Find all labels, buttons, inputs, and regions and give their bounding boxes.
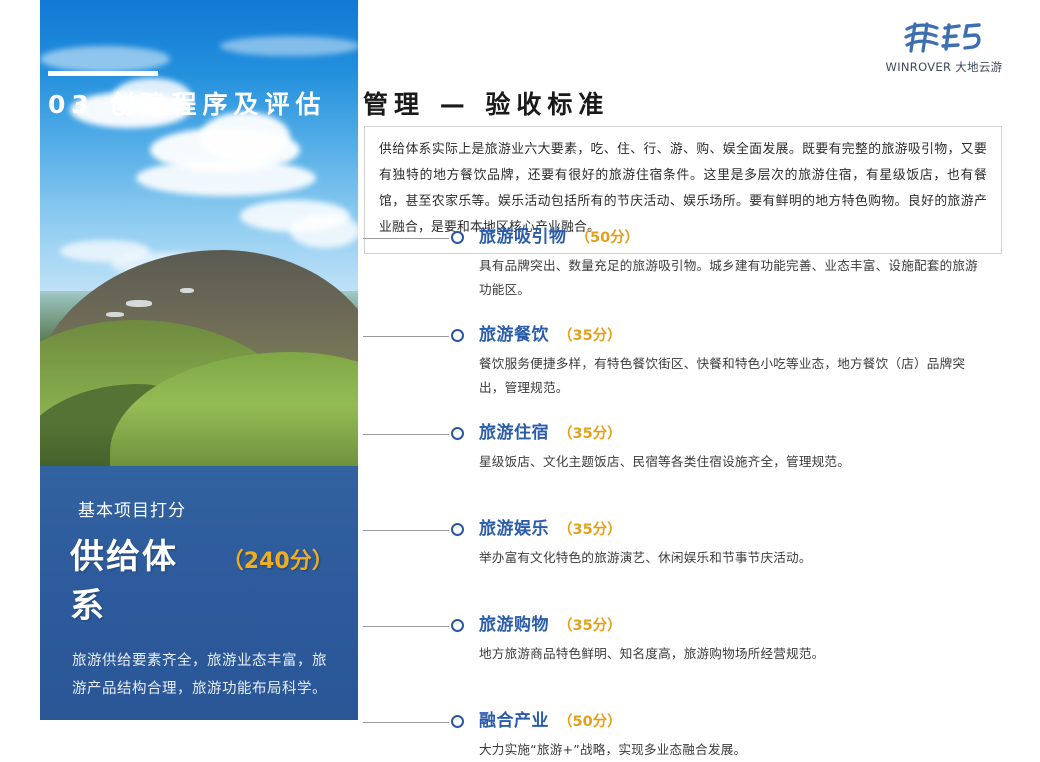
list-item-title: 旅游购物 xyxy=(479,610,549,635)
page-title-left: 03 创建程序及评估 xyxy=(48,85,327,121)
list-item-desc: 具有品牌突出、数量充足的旅游吸引物。城乡建有功能完善、业态丰富、设施配套的旅游功… xyxy=(479,254,979,302)
cloud-wisp xyxy=(220,36,358,56)
panel-title: 供给体系 xyxy=(70,529,212,627)
list-item[interactable]: 旅游购物 （35分） 地方旅游商品特色鲜明、知名度高，旅游购物场所经营规范。 xyxy=(363,610,1023,666)
logo-text: WINROVER 大地云游 xyxy=(884,59,1004,75)
list-item-score: （50分） xyxy=(558,710,622,731)
cloud-wisp xyxy=(40,46,170,72)
list-item-score: （35分） xyxy=(558,422,622,443)
cloud xyxy=(290,214,358,248)
list-item-title: 旅游娱乐 xyxy=(479,514,549,539)
list-item-title: 旅游吸引物 xyxy=(479,222,567,247)
list-item[interactable]: 旅游娱乐 （35分） 举办富有文化特色的旅游演艺、休闲娱乐和节事节庆活动。 xyxy=(363,514,1023,570)
cloud xyxy=(136,160,316,196)
list-item-title: 旅游餐饮 xyxy=(479,320,549,345)
connector-line xyxy=(363,530,449,531)
list-item-title: 融合产业 xyxy=(479,706,549,731)
list-item[interactable]: 融合产业 （50分） 大力实施“旅游+”战略，实现多业态融合发展。 xyxy=(363,706,1023,762)
list-item[interactable]: 旅游餐饮 （35分） 餐饮服务便捷多样，有特色餐饮街区、快餐和特色小吃等业态，地… xyxy=(363,320,1023,400)
list-item-desc: 星级饭店、文化主题饭店、民宿等各类住宿设施齐全，管理规范。 xyxy=(479,450,979,474)
connector-line xyxy=(363,336,449,337)
panel-description: 旅游供给要素齐全，旅游业态丰富，旅游产品结构合理，旅游功能布局科学。 xyxy=(72,647,332,703)
snow-patch xyxy=(180,288,194,293)
list-item-score: （35分） xyxy=(558,614,622,635)
panel-title-row: 供给体系 （240分） xyxy=(70,529,332,627)
list-item-score: （35分） xyxy=(558,518,622,539)
list-item-head: 旅游购物 （35分） xyxy=(479,610,1023,635)
list-item-head: 融合产业 （50分） xyxy=(479,706,1023,731)
panel-score-badge: （240分） xyxy=(222,543,332,575)
brand-logo: WINROVER 大地云游 xyxy=(884,20,1004,75)
list-item-score: （35分） xyxy=(558,324,622,345)
list-item-desc: 举办富有文化特色的旅游演艺、休闲娱乐和节事节庆活动。 xyxy=(479,546,979,570)
bullet-circle-icon xyxy=(451,619,464,632)
page-title-right: 管理 — 验收标准 xyxy=(361,85,609,121)
connector-line xyxy=(363,722,449,723)
list-item-head: 旅游住宿 （35分） xyxy=(479,418,1023,443)
bullet-circle-icon xyxy=(451,715,464,728)
list-item-title: 旅游住宿 xyxy=(479,418,549,443)
list-item-desc: 地方旅游商品特色鲜明、知名度高，旅游购物场所经营规范。 xyxy=(479,642,979,666)
bullet-circle-icon xyxy=(451,427,464,440)
list-item-head: 旅游餐饮 （35分） xyxy=(479,320,1023,345)
score-summary-panel: 基本项目打分 供给体系 （240分） 旅游供给要素齐全，旅游业态丰富，旅游产品结… xyxy=(40,466,358,720)
bullet-circle-icon xyxy=(451,523,464,536)
list-item-desc: 大力实施“旅游+”战略，实现多业态融合发展。 xyxy=(479,738,979,762)
snow-patch xyxy=(126,300,152,307)
list-item-score: （50分） xyxy=(576,226,640,247)
snow-patch xyxy=(106,312,124,317)
list-item[interactable]: 旅游住宿 （35分） 星级饭店、文化主题饭店、民宿等各类住宿设施齐全，管理规范。 xyxy=(363,418,1023,474)
list-item[interactable]: 旅游吸引物 （50分） 具有品牌突出、数量充足的旅游吸引物。城乡建有功能完善、业… xyxy=(363,222,1023,302)
list-item-head: 旅游吸引物 （50分） xyxy=(479,222,1023,247)
winrover-logo-mark xyxy=(901,20,987,56)
title-accent-bar xyxy=(48,71,158,76)
panel-kicker: 基本项目打分 xyxy=(78,496,332,521)
list-item-desc: 餐饮服务便捷多样，有特色餐饮街区、快餐和特色小吃等业态，地方餐饮（店）品牌突出，… xyxy=(479,352,979,400)
connector-line xyxy=(363,626,449,627)
bullet-circle-icon xyxy=(451,231,464,244)
connector-line xyxy=(363,434,449,435)
connector-line xyxy=(363,238,449,239)
criteria-list: 旅游吸引物 （50分） 具有品牌突出、数量充足的旅游吸引物。城乡建有功能完善、业… xyxy=(363,222,1023,762)
bullet-circle-icon xyxy=(451,329,464,342)
list-item-head: 旅游娱乐 （35分） xyxy=(479,514,1023,539)
